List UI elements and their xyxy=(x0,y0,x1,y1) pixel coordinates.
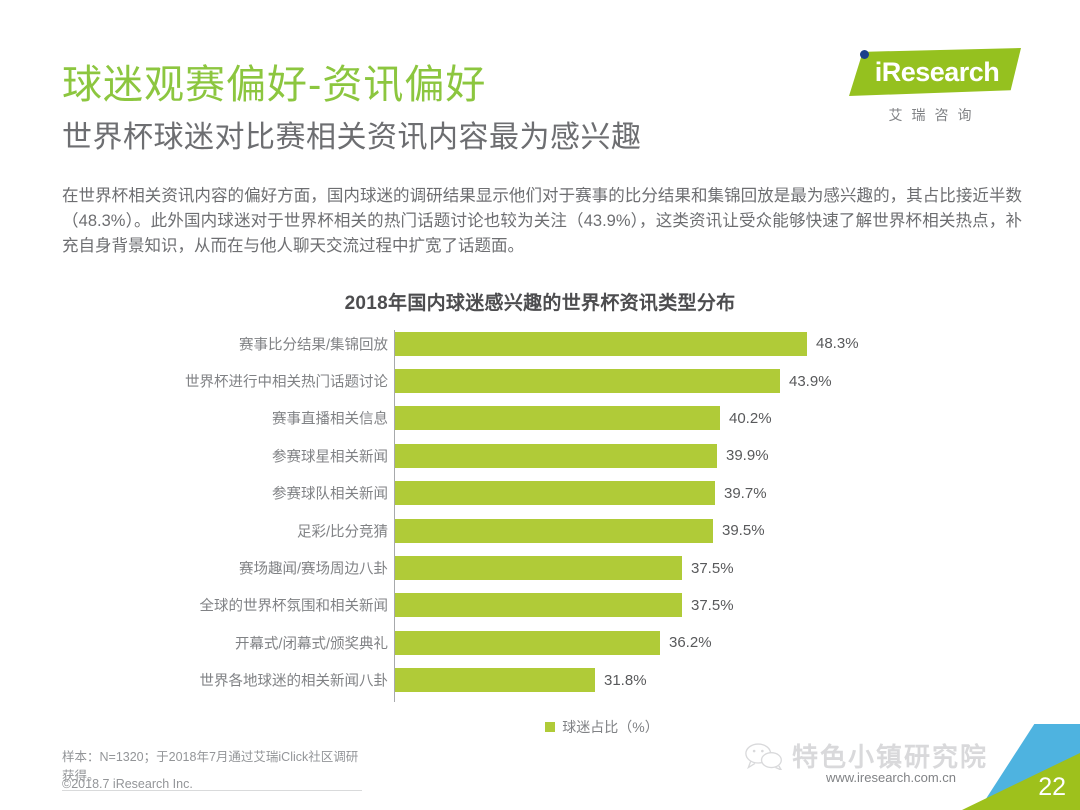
chart-row: 赛事直播相关信息40.2% xyxy=(62,400,1022,437)
chart-category-label: 参赛球星相关新闻 xyxy=(272,445,388,466)
slide-root: 球迷观赛偏好-资讯偏好 世界杯球迷对比赛相关资讯内容最为感兴趣 iResearc… xyxy=(0,0,1080,810)
logo-wordmark: iResearch xyxy=(849,48,1021,96)
chart-value-label: 31.8% xyxy=(604,672,647,689)
legend-label: 球迷占比（%） xyxy=(562,717,658,737)
legend-swatch-icon xyxy=(545,722,555,732)
copyright-text: ©2018.7 iResearch Inc. xyxy=(62,777,193,791)
intro-paragraph: 在世界杯相关资讯内容的偏好方面，国内球迷的调研结果显示他们对于赛事的比分结果和集… xyxy=(62,184,1022,259)
chart-value-label: 37.5% xyxy=(691,560,734,577)
chart-title: 2018年国内球迷感兴趣的世界杯资讯类型分布 xyxy=(0,288,1080,315)
page-subtitle: 世界杯球迷对比赛相关资讯内容最为感兴趣 xyxy=(62,118,642,158)
bar-chart: 赛事比分结果/集锦回放48.3%世界杯进行中相关热门话题讨论43.9%赛事直播相… xyxy=(62,325,1022,720)
chart-row: 参赛球星相关新闻39.9% xyxy=(62,437,1022,474)
chart-row: 参赛球队相关新闻39.7% xyxy=(62,475,1022,512)
chart-category-label: 赛场趣闻/赛场周边八卦 xyxy=(239,558,388,579)
chart-bar[interactable] xyxy=(395,332,807,356)
chart-value-label: 36.2% xyxy=(669,634,712,651)
chart-bar[interactable] xyxy=(395,593,682,617)
chart-bar[interactable] xyxy=(395,556,682,580)
chart-category-label: 开幕式/闭幕式/颁奖典礼 xyxy=(235,632,388,653)
chart-bar-group: 31.8% xyxy=(395,668,647,692)
chart-value-label: 43.9% xyxy=(789,373,832,390)
chart-bar[interactable] xyxy=(395,519,713,543)
chart-bar-group: 39.7% xyxy=(395,481,767,505)
iresearch-logo: iResearch 艾瑞咨询 xyxy=(835,48,1025,126)
chart-bar-group: 39.5% xyxy=(395,519,765,543)
chart-bar-group: 48.3% xyxy=(395,332,859,356)
chart-row: 世界杯进行中相关热门话题讨论43.9% xyxy=(62,362,1022,399)
chart-row: 足彩/比分竞猜39.5% xyxy=(62,512,1022,549)
chart-bar-group: 43.9% xyxy=(395,369,832,393)
chart-value-label: 37.5% xyxy=(691,597,734,614)
chart-row: 赛场趣闻/赛场周边八卦37.5% xyxy=(62,549,1022,586)
chart-legend: 球迷占比（%） xyxy=(62,717,1080,737)
chart-row: 开幕式/闭幕式/颁奖典礼36.2% xyxy=(62,624,1022,661)
page-title: 球迷观赛偏好-资讯偏好 xyxy=(62,62,486,108)
chart-category-label: 世界杯进行中相关热门话题讨论 xyxy=(185,371,388,392)
wechat-icon xyxy=(744,742,784,770)
logo-chinese-name: 艾瑞咨询 xyxy=(835,105,1025,125)
page-number: 22 xyxy=(1038,773,1066,802)
chart-bar-group: 37.5% xyxy=(395,556,734,580)
chart-bar-group: 37.5% xyxy=(395,593,734,617)
logo-mark: iResearch xyxy=(849,48,1021,96)
chart-category-label: 赛事直播相关信息 xyxy=(272,408,388,429)
chart-value-label: 48.3% xyxy=(816,335,859,352)
chart-bar[interactable] xyxy=(395,444,717,468)
website-url: www.iresearch.com.cn xyxy=(826,770,956,785)
chart-category-label: 足彩/比分竞猜 xyxy=(297,520,388,541)
chart-bar[interactable] xyxy=(395,481,715,505)
chart-value-label: 39.9% xyxy=(726,447,769,464)
intro-paragraph-text: 在世界杯相关资讯内容的偏好方面，国内球迷的调研结果显示他们对于赛事的比分结果和集… xyxy=(62,184,1022,259)
chart-value-label: 39.5% xyxy=(722,522,765,539)
chart-bar[interactable] xyxy=(395,369,780,393)
chart-category-label: 赛事比分结果/集锦回放 xyxy=(239,333,388,354)
chart-value-label: 40.2% xyxy=(729,410,772,427)
chart-category-label: 全球的世界杯氛围和相关新闻 xyxy=(200,595,389,616)
chart-bar-group: 36.2% xyxy=(395,631,712,655)
chart-category-label: 世界各地球迷的相关新闻八卦 xyxy=(200,670,389,691)
chart-rows: 赛事比分结果/集锦回放48.3%世界杯进行中相关热门话题讨论43.9%赛事直播相… xyxy=(62,325,1022,699)
chart-bar[interactable] xyxy=(395,631,660,655)
chart-category-label: 参赛球队相关新闻 xyxy=(272,483,388,504)
chart-bar-group: 40.2% xyxy=(395,406,772,430)
chart-bar[interactable] xyxy=(395,668,595,692)
chart-row: 世界各地球迷的相关新闻八卦31.8% xyxy=(62,662,1022,699)
logo-dot-icon xyxy=(860,50,869,59)
chart-bar[interactable] xyxy=(395,406,720,430)
chart-row: 全球的世界杯氛围和相关新闻37.5% xyxy=(62,587,1022,624)
chart-bar-group: 39.9% xyxy=(395,444,769,468)
chart-value-label: 39.7% xyxy=(724,485,767,502)
chart-row: 赛事比分结果/集锦回放48.3% xyxy=(62,325,1022,362)
